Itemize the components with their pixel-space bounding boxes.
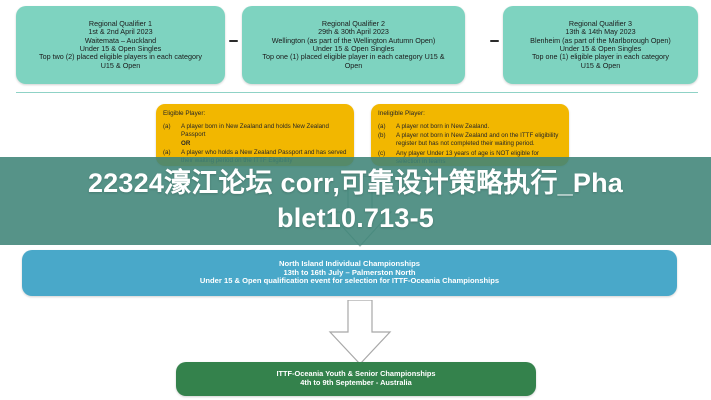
- ittf-line-2: 4th to 9th September - Australia: [300, 379, 411, 388]
- connector-qualifier-1-to-2: [229, 40, 238, 42]
- qualifier-2-line-6: Open: [345, 62, 363, 70]
- ineligible-item-b: (b) A player not born in New Zealand and…: [378, 132, 562, 149]
- regional-qualifier-1-box: Regional Qualifier 1 1st & 2nd April 202…: [16, 6, 225, 84]
- north-island-line-3: Under 15 & Open qualification event for …: [200, 277, 499, 286]
- ineligible-item-b-marker: (b): [378, 132, 391, 149]
- watermark-line-1: 22324濠江论坛 corr,可靠设计策略执行_Pha: [38, 166, 673, 201]
- ittf-oceania-championships-box: ITTF-Oceania Youth & Senior Championship…: [176, 362, 536, 396]
- eligible-player-heading: Eligible Player:: [163, 110, 347, 119]
- qualifier-1-line-6: U15 & Open: [101, 62, 141, 70]
- eligible-item-a-text: A player born in New Zealand and holds N…: [181, 123, 347, 140]
- watermark-line-2: blet10.713-5: [38, 201, 673, 236]
- qualifier-3-line-6: U15 & Open: [581, 62, 621, 70]
- ineligible-player-heading: Ineligible Player:: [378, 110, 562, 119]
- regional-qualifier-3-box: Regional Qualifier 3 13th & 14th May 202…: [503, 6, 698, 84]
- eligible-item-a: (a) A player born in New Zealand and hol…: [163, 123, 347, 140]
- eligible-item-a-marker: (a): [163, 123, 176, 140]
- regional-qualifier-2-box: Regional Qualifier 2 29th & 30th April 2…: [242, 6, 465, 84]
- flowchart-canvas: Regional Qualifier 1 1st & 2nd April 202…: [0, 0, 711, 400]
- watermark-text: 22324濠江论坛 corr,可靠设计策略执行_Pha blet10.713-5: [0, 166, 711, 235]
- ineligible-item-b-text: A player not born in New Zealand and on …: [396, 132, 562, 149]
- top-row-divider: [16, 92, 698, 93]
- arrow-down-to-ittf-icon: [322, 300, 398, 366]
- north-island-championships-box: North Island Individual Championships 13…: [22, 250, 677, 296]
- connector-qualifier-2-to-3: [490, 40, 499, 42]
- ineligible-item-a: (a) A player not born in New Zealand.: [378, 123, 562, 131]
- ineligible-item-a-text: A player not born in New Zealand.: [396, 123, 562, 131]
- ineligible-item-a-marker: (a): [378, 123, 391, 131]
- eligible-item-or: OR: [181, 140, 347, 148]
